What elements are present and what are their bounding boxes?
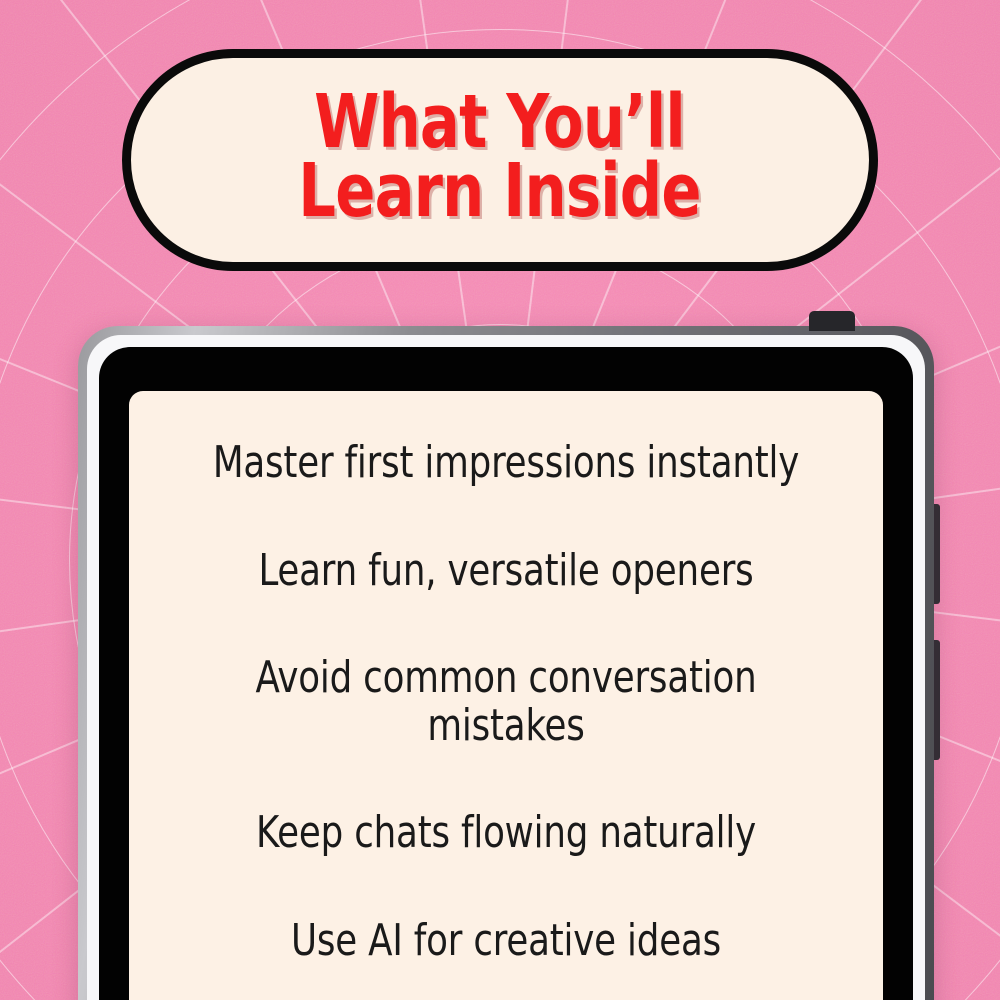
tablet-screen: Master first impressions instantlyLearn … xyxy=(129,391,883,1000)
tablet-bezel: Master first impressions instantlyLearn … xyxy=(99,347,913,1000)
benefit-item: Keep chats flowing naturally xyxy=(203,809,810,857)
tablet-device: Master first impressions instantlyLearn … xyxy=(78,326,934,1000)
poster-canvas: What You’ll Learn Inside Master first im… xyxy=(0,0,1000,1000)
benefit-item: Master first impressions instantly xyxy=(203,439,810,487)
tablet-frame: Master first impressions instantlyLearn … xyxy=(78,326,934,1000)
benefit-item: Avoid common conversation mistakes xyxy=(218,654,794,749)
power-nub-button[interactable] xyxy=(809,311,855,331)
volume-up-button[interactable] xyxy=(933,504,940,604)
volume-down-button[interactable] xyxy=(933,640,940,760)
benefits-list: Master first impressions instantlyLearn … xyxy=(129,439,883,1000)
benefit-item: Learn fun, versatile openers xyxy=(203,547,810,595)
headline-pill: What You’ll Learn Inside xyxy=(122,49,878,271)
benefit-item: Use AI for creative ideas xyxy=(203,917,810,965)
tablet-glass-edge: Master first impressions instantlyLearn … xyxy=(87,335,925,1000)
page-title: What You’ll Learn Inside xyxy=(299,88,701,232)
